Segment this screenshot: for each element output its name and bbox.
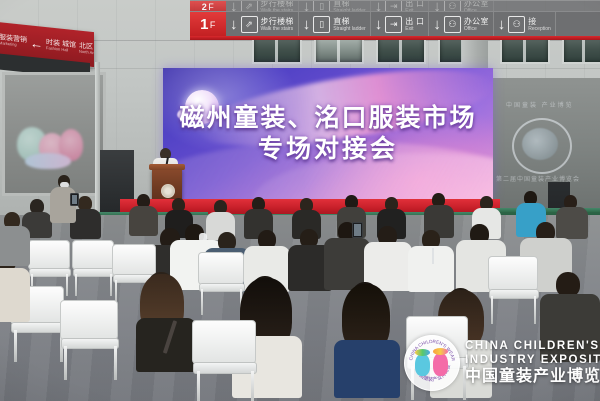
left-sign-label-3: 北区自行 North Area — [79, 43, 94, 57]
arrow-down-icon: ↓ — [230, 17, 238, 32]
mascot-pink-hat-icon — [433, 348, 448, 355]
exit-icon: ⇥ — [385, 16, 402, 33]
left-sign-label-1: 服装营销 Marketing — [0, 34, 27, 48]
arrow-down-icon: ↓ — [433, 17, 441, 32]
sign-cell-reception: ↓ ⚇ 接Reception — [494, 12, 556, 37]
watermark-cn-line: 中国童装产业博览会 — [465, 369, 600, 385]
sign-label: 接Reception — [528, 18, 551, 32]
sign-label: 步行楼梯Walk the stairs — [261, 18, 294, 32]
folding-chair — [28, 240, 68, 290]
elevator-icon: ▯ — [313, 16, 330, 33]
watermark-en-line1: CHINA CHILDREN'S WEAR — [465, 341, 600, 353]
event-watermark: CHINA CHILDREN'S WEAR EXPOSITION 中国童装产业博… — [404, 332, 596, 394]
folding-chair — [72, 240, 112, 290]
floor-suffix: F — [208, 2, 214, 12]
floor-number: 1 — [200, 16, 209, 33]
led-stage-screen: 磁州童装、洺口服装市场 专场对接会 — [163, 68, 493, 199]
mascot-decal — [13, 119, 93, 169]
back-wall-banner: 中国童装 产业博览 第二届中国童装产业博览会 — [488, 78, 600, 208]
sign-cell-elevator: ↓ ▯ 直梯Straight ladder — [299, 12, 371, 37]
watermark-text: CHINA CHILDREN'S WEAR INDUSTRY EXPOSITIO… — [465, 341, 600, 385]
podium-emblem-icon — [161, 184, 175, 198]
banner-emblem-icon — [522, 128, 558, 160]
folding-chair — [60, 300, 116, 366]
reception-icon: ⚇ — [508, 16, 525, 33]
sign-cell-stairs: ↓ ⇗ 步行楼梯Walk the stairs — [226, 12, 299, 37]
folding-chair — [488, 256, 536, 314]
podium-top — [149, 164, 185, 170]
screen-title-line1: 磁州童装、洺口服装市场 — [163, 104, 493, 132]
folding-chair — [198, 252, 242, 306]
floor-badge-1f: 1F — [190, 12, 226, 37]
arrow-left-icon: ← — [30, 35, 43, 51]
office-icon: ⚇ — [444, 16, 461, 33]
hall-doorway-left — [2, 72, 106, 196]
sign-label: 出 口Exit — [405, 18, 424, 32]
expo-logo-badge-icon: CHINA CHILDREN'S WEAR EXPOSITION 中国童装产业博… — [404, 335, 460, 391]
arrow-down-icon: ↓ — [498, 17, 506, 32]
exhibition-hall-photo: 2F ↓ ⇗ 步行楼梯Walk the stairs ↓ ▯ 直梯Straigh… — [0, 0, 600, 401]
arrow-down-icon: ↓ — [375, 17, 383, 32]
svg-text:CHINA CHILDREN'S WEAR EXPOSITI: CHINA CHILDREN'S WEAR EXPOSITION — [405, 336, 456, 362]
floor-suffix: F — [210, 20, 216, 30]
mascot-pink-icon — [433, 353, 448, 376]
stairs-icon: ⇗ — [241, 16, 258, 33]
screen-title-line2: 专场对接会 — [163, 134, 493, 164]
sign-label: 办公室Office — [464, 18, 489, 32]
mascot-blue-icon — [415, 354, 430, 376]
folding-chair — [192, 320, 254, 394]
sign-label: 直梯Straight ladder — [333, 18, 366, 32]
sign-cell-office: ↓ ⚇ 办公室Office — [429, 12, 493, 37]
banner-top-text: 中国童装 产业博览 — [506, 100, 574, 109]
arrow-down-icon: ↓ — [303, 17, 311, 32]
sign-red-underline — [190, 36, 600, 40]
floor-number: 2 — [202, 2, 208, 12]
floor-sign-1f: 1F ↓ ⇗ 步行楼梯Walk the stairs ↓ ▯ 直梯Straigh… — [190, 11, 600, 38]
watermark-en-line2: INDUSTRY EXPOSITION — [465, 355, 600, 367]
mascot-blue-hat-icon — [415, 349, 430, 356]
left-sign-label-2: 时装 城馆 Fashion Hall — [46, 39, 76, 53]
sign-cell-exit: ↓ ⇥ 出 口Exit — [371, 12, 430, 37]
screen-title-block: 磁州童装、洺口服装市场 专场对接会 — [163, 104, 493, 164]
